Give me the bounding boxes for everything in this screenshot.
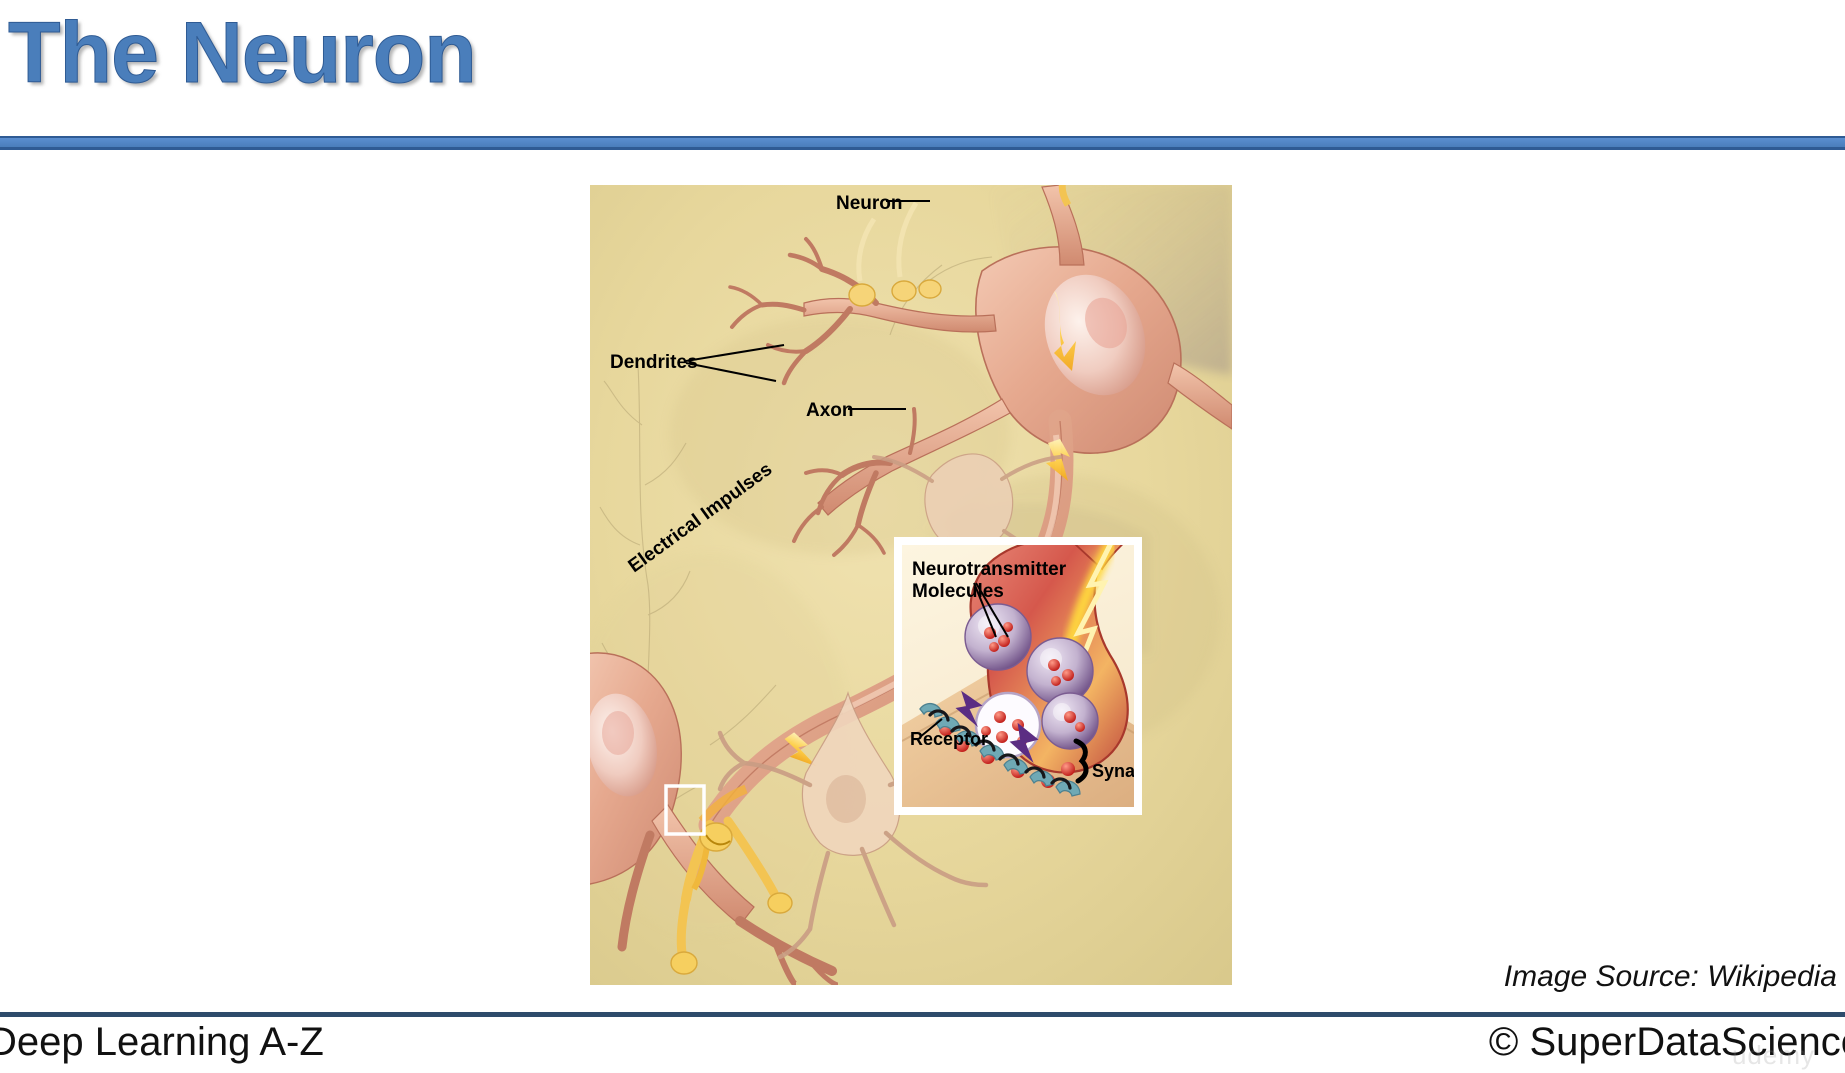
label-neurotransmitter-line2: Molecules: [912, 581, 1004, 602]
footer-divider: [0, 1012, 1845, 1017]
synapse-detail-inset: Neurotransmitter Molecules Receptor Syna…: [898, 491, 1166, 811]
label-neurotransmitter-line1: Neurotransmitter: [912, 559, 1067, 580]
neuron-diagram: Neurotransmitter Molecules Receptor Syna…: [590, 185, 1232, 985]
label-receptor: Receptor: [910, 729, 988, 749]
image-credit: Image Source: Wikipedia: [1504, 960, 1837, 994]
page-title: The Neuron: [8, 6, 476, 101]
neuron-illustration: Neurotransmitter Molecules Receptor Syna…: [590, 185, 1232, 985]
title-divider: [0, 136, 1845, 150]
label-axon: Axon: [806, 400, 854, 421]
footer-course-name: Deep Learning A-Z: [0, 1020, 324, 1065]
footer-copyright: © SuperDataScience: [1489, 1020, 1845, 1065]
label-neuron: Neuron: [836, 193, 903, 214]
label-dendrites: Dendrites: [610, 352, 698, 373]
